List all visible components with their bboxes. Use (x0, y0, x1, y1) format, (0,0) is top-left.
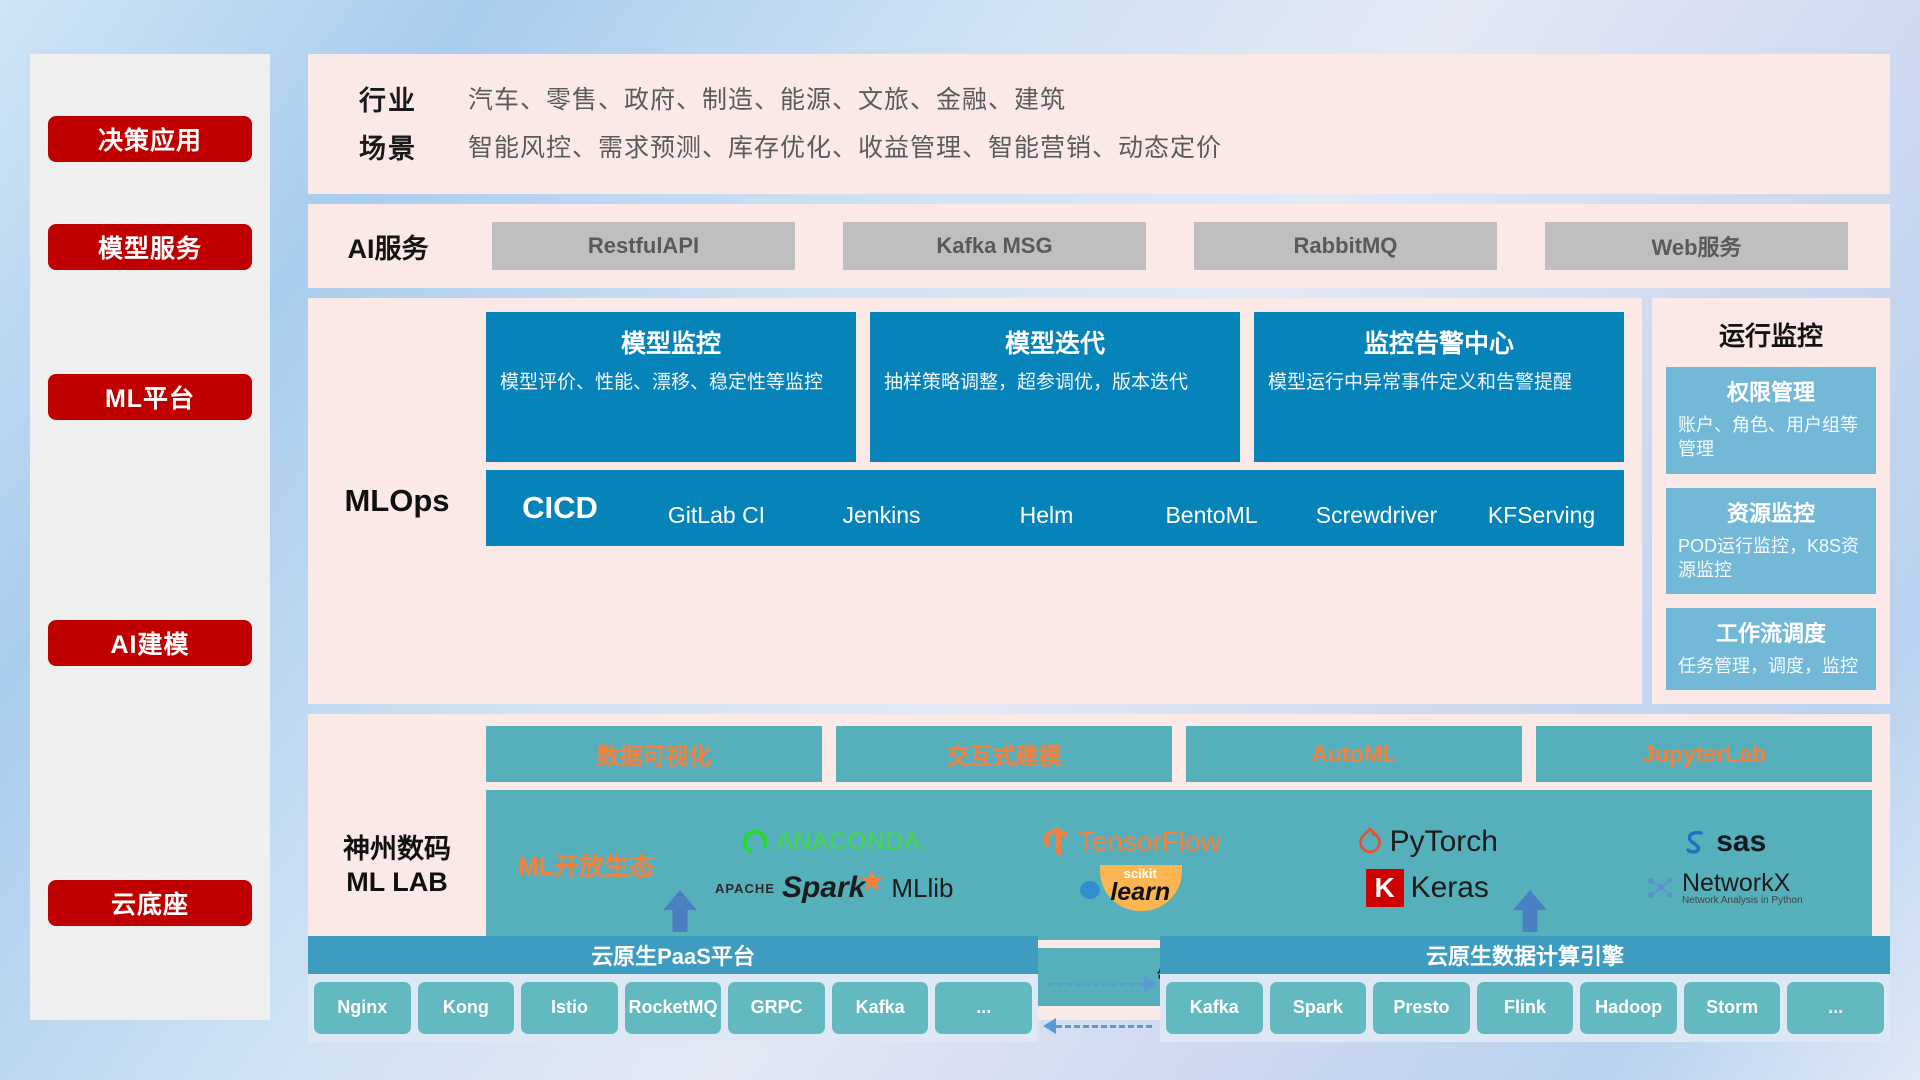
connector-left-arrow (1043, 1018, 1056, 1034)
ai-service-items: RestfulAPI Kafka MSG RabbitMQ Web服务 (468, 222, 1890, 270)
cicd-item-kfserving[interactable]: KFServing (1459, 502, 1624, 528)
tensorflow-label: TensorFlow (1078, 826, 1221, 858)
engine-chip-spark[interactable]: Spark (1270, 982, 1367, 1034)
card-desc: POD运行监控，K8S资源监控 (1678, 534, 1864, 583)
cloud-engine-chips: Kafka Spark Presto Flink Hadoop Storm ..… (1160, 974, 1890, 1042)
cicd-bar: CICD GitLab CI Jenkins Helm BentoML Scre… (486, 470, 1624, 546)
cicd-item-helm[interactable]: Helm (964, 502, 1129, 528)
industry-value: 汽车、零售、政府、制造、能源、文旅、金融、建筑 (468, 80, 1066, 116)
cloud-chip-grpc[interactable]: GRPC (728, 982, 825, 1034)
mlops-card-model-monitor[interactable]: 模型监控 模型评价、性能、漂移、稳定性等监控 (486, 312, 856, 462)
cloud-paas-chips: Nginx Kong Istio RocketMQ GRPC Kafka ... (308, 974, 1038, 1042)
cloud-chip-kafka[interactable]: Kafka (832, 982, 929, 1034)
scenario-value: 智能风控、需求预测、库存优化、收益管理、智能营销、动态定价 (468, 128, 1222, 164)
ai-service-kafka-msg[interactable]: Kafka MSG (843, 222, 1146, 270)
engine-chip-kafka[interactable]: Kafka (1166, 982, 1263, 1034)
rail-item-ml-platform[interactable]: ML平台 (48, 374, 252, 420)
mlops-label: MLOps (308, 312, 486, 690)
card-title: 权限管理 (1678, 375, 1864, 407)
industry-row: 行业 汽车、零售、政府、制造、能源、文旅、金融、建筑 (308, 74, 1890, 122)
card-desc: 账户、角色、用户组等管理 (1678, 413, 1864, 462)
pytorch-label: PyTorch (1390, 825, 1498, 859)
rail-label: ML平台 (105, 379, 195, 415)
monitor-panel-title: 运行监控 (1666, 316, 1876, 353)
cicd-title: CICD (486, 490, 634, 526)
cloud-engine-group: 云原生数据计算引擎 Kafka Spark Presto Flink Hadoo… (1160, 936, 1890, 1042)
industry-scenario-band: 行业 汽车、零售、政府、制造、能源、文旅、金融、建筑 场景 智能风控、需求预测、… (308, 54, 1890, 194)
cloud-engine-title: 云原生数据计算引擎 (1160, 936, 1890, 974)
ai-service-rabbitmq[interactable]: RabbitMQ (1194, 222, 1497, 270)
ai-service-band: AI服务 RestfulAPI Kafka MSG RabbitMQ Web服务 (308, 204, 1890, 288)
engine-chip-flink[interactable]: Flink (1477, 982, 1574, 1034)
tab-interactive-modeling[interactable]: 交互式建模 (836, 726, 1172, 782)
card-title: 工作流调度 (1678, 616, 1864, 648)
cloud-paas-title: 云原生PaaS平台 (308, 936, 1038, 974)
connector-right-line (1048, 983, 1144, 986)
rail-item-decision-app[interactable]: 决策应用 (48, 116, 252, 162)
card-title: 模型迭代 (884, 324, 1226, 360)
layer-rail: 决策应用 模型服务 ML平台 AI建模 云底座 (30, 54, 270, 1020)
industry-key: 行业 (308, 79, 468, 118)
anaconda-label: ANACONDA. (777, 828, 929, 856)
card-desc: 抽样策略调整，超参调优，版本迭代 (884, 370, 1226, 396)
monitor-card-resource[interactable]: 资源监控 POD运行监控，K8S资源监控 (1666, 488, 1876, 595)
cicd-item-gitlab-ci[interactable]: GitLab CI (634, 502, 799, 528)
cloud-chip-nginx[interactable]: Nginx (314, 982, 411, 1034)
ai-service-restfulapi[interactable]: RestfulAPI (492, 222, 795, 270)
arrow-up-paas (663, 890, 697, 932)
scenario-key: 场景 (308, 127, 468, 166)
mlops-row: MLOps 模型监控 模型评价、性能、漂移、稳定性等监控 模型迭代 抽样策略调整… (308, 298, 1890, 704)
cloud-chip-rocketmq[interactable]: RocketMQ (625, 982, 722, 1034)
card-desc: 任务管理，调度，监控 (1678, 654, 1864, 678)
engine-chip-presto[interactable]: Presto (1373, 982, 1470, 1034)
rail-item-model-service[interactable]: 模型服务 (48, 224, 252, 270)
main-column: 行业 汽车、零售、政府、制造、能源、文旅、金融、建筑 场景 智能风控、需求预测、… (308, 54, 1890, 1020)
monitor-card-permission[interactable]: 权限管理 账户、角色、用户组等管理 (1666, 367, 1876, 474)
modeling-tabs: 数据可视化 交互式建模 AutoML JupyterLab (486, 726, 1872, 782)
cloud-chip-kong[interactable]: Kong (418, 982, 515, 1034)
anaconda-logo: ANACONDA. (740, 827, 929, 857)
rail-label: 云底座 (111, 885, 189, 921)
rail-label: AI建模 (110, 625, 189, 661)
cicd-item-jenkins[interactable]: Jenkins (799, 502, 964, 528)
tab-data-visualization[interactable]: 数据可视化 (486, 726, 822, 782)
tensorflow-logo: TensorFlow (1041, 826, 1221, 858)
card-desc: 模型运行中异常事件定义和告警提醒 (1268, 370, 1610, 396)
cicd-item-bentoml[interactable]: BentoML (1129, 502, 1294, 528)
rail-item-cloud-base[interactable]: 云底座 (48, 880, 252, 926)
cloud-paas-group: 云原生PaaS平台 Nginx Kong Istio RocketMQ GRPC… (308, 936, 1038, 1042)
rail-item-ai-modeling[interactable]: AI建模 (48, 620, 252, 666)
cloud-chip-istio[interactable]: Istio (521, 982, 618, 1034)
sas-logo: sas (1681, 825, 1766, 859)
engine-chip-storm[interactable]: Storm (1684, 982, 1781, 1034)
mlops-band: MLOps 模型监控 模型评价、性能、漂移、稳定性等监控 模型迭代 抽样策略调整… (308, 298, 1642, 704)
runtime-monitor-panel: 运行监控 权限管理 账户、角色、用户组等管理 资源监控 POD运行监控，K8S资… (1652, 298, 1890, 704)
cicd-item-screwdriver[interactable]: Screwdriver (1294, 502, 1459, 528)
cloud-foundation-section: 云原生PaaS平台 Nginx Kong Istio RocketMQ GRPC… (308, 890, 1890, 1030)
mlops-card-model-iteration[interactable]: 模型迭代 抽样策略调整，超参调优，版本迭代 (870, 312, 1240, 462)
connector-left-line (1056, 1025, 1152, 1028)
cloud-chip-more[interactable]: ... (935, 982, 1032, 1034)
monitor-card-workflow[interactable]: 工作流调度 任务管理，调度，监控 (1666, 608, 1876, 690)
mlops-card-alert-center[interactable]: 监控告警中心 模型运行中异常事件定义和告警提醒 (1254, 312, 1624, 462)
engine-chip-hadoop[interactable]: Hadoop (1580, 982, 1677, 1034)
pytorch-logo: PyTorch (1357, 825, 1498, 859)
architecture-diagram: 决策应用 模型服务 ML平台 AI建模 云底座 行业 汽车、零售、政府、制造、能… (0, 0, 1920, 1080)
card-title: 模型监控 (500, 324, 842, 360)
tab-automl[interactable]: AutoML (1186, 726, 1522, 782)
rail-label: 模型服务 (98, 229, 202, 265)
connector-right-arrow (1144, 976, 1157, 992)
card-desc: 模型评价、性能、漂移、稳定性等监控 (500, 370, 842, 396)
card-title: 监控告警中心 (1268, 324, 1610, 360)
modeling-label-line1: 神州数码 (343, 834, 451, 864)
ai-service-label: AI服务 (308, 227, 468, 266)
engine-chip-more[interactable]: ... (1787, 982, 1884, 1034)
rail-label: 决策应用 (98, 121, 202, 157)
ai-service-web[interactable]: Web服务 (1545, 222, 1848, 270)
sas-label: sas (1716, 825, 1766, 859)
arrow-up-engine (1513, 890, 1547, 932)
tab-jupyterlab[interactable]: JupyterLab (1536, 726, 1872, 782)
ml-ecosystem-label: ML开放生态 (486, 847, 686, 883)
card-title: 资源监控 (1678, 496, 1864, 528)
scenario-row: 场景 智能风控、需求预测、库存优化、收益管理、智能营销、动态定价 (308, 122, 1890, 170)
